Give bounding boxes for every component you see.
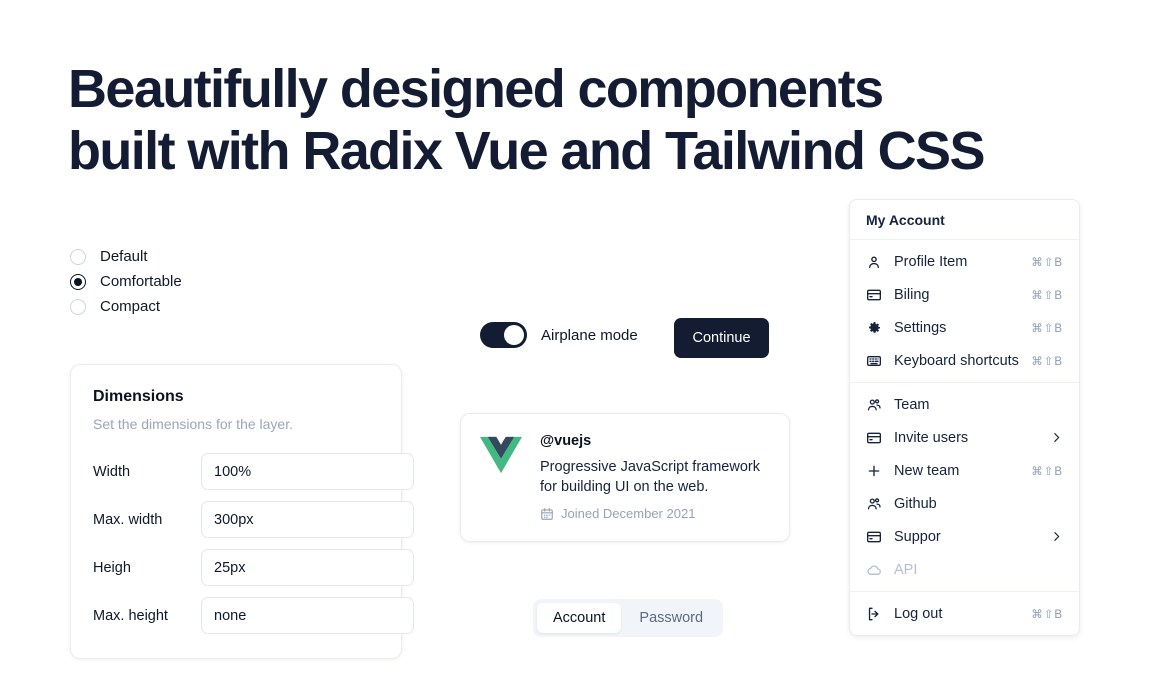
menu-group: Profile Item⌘⇧BBiling⌘⇧BSettings⌘⇧BKeybo…: [850, 240, 1079, 382]
dimension-field-row: Max. height: [93, 597, 379, 634]
credit-card-icon: [866, 529, 882, 545]
settings-tabs: AccountPassword: [533, 599, 723, 637]
credit-card-icon: [866, 430, 882, 446]
dimension-input-heigh[interactable]: [201, 549, 414, 586]
menu-item-new-team[interactable]: New team⌘⇧B: [850, 454, 1079, 487]
profile-hover-card: @vuejs Progressive JavaScript framework …: [460, 413, 790, 542]
dimensions-card-description: Set the dimensions for the layer.: [93, 415, 379, 433]
user-icon: [866, 254, 882, 270]
hover-card-body: @vuejs Progressive JavaScript framework …: [540, 432, 770, 522]
dimension-field-row: Width: [93, 453, 379, 490]
radio-option-compact[interactable]: Compact: [70, 298, 182, 315]
airplane-mode-label: Airplane mode: [541, 327, 638, 344]
menu-item-label: Team: [894, 397, 1063, 413]
menu-item-label: API: [894, 562, 1063, 578]
page-title: Beautifully designed components built wi…: [68, 58, 1028, 182]
menu-item-shortcut: ⌘⇧B: [1031, 288, 1063, 302]
menu-item-label: Profile Item: [894, 254, 1031, 270]
continue-button[interactable]: Continue: [674, 318, 769, 358]
menu-header-label: My Account: [850, 200, 1079, 239]
menu-item-label: Settings: [894, 320, 1031, 336]
menu-item-keyboard-shortcuts[interactable]: Keyboard shortcuts⌘⇧B: [850, 344, 1079, 377]
density-radio-group[interactable]: DefaultComfortableCompact: [70, 248, 182, 315]
menu-item-api: API: [850, 553, 1079, 586]
menu-item-team[interactable]: Team: [850, 388, 1079, 421]
radio-option-comfortable[interactable]: Comfortable: [70, 273, 182, 290]
dimension-input-width[interactable]: [201, 453, 414, 490]
page-title-line-2: built with Radix Vue and Tailwind CSS: [68, 120, 1028, 182]
toggle-knob: [504, 325, 524, 345]
cloud-icon: [866, 562, 882, 578]
dimension-input-max-height[interactable]: [201, 597, 414, 634]
menu-item-label: Keyboard shortcuts: [894, 353, 1031, 369]
radio-option-label: Default: [100, 248, 148, 265]
dimension-field-label: Heigh: [93, 560, 201, 576]
menu-item-github[interactable]: Github: [850, 487, 1079, 520]
radio-option-label: Compact: [100, 298, 160, 315]
account-dropdown-menu: My Account Profile Item⌘⇧BBiling⌘⇧BSetti…: [849, 199, 1080, 636]
dimension-field-label: Width: [93, 464, 201, 480]
hover-card-description: Progressive JavaScript framework for bui…: [540, 457, 770, 497]
tab-account[interactable]: Account: [537, 603, 621, 633]
page-title-line-1: Beautifully designed components: [68, 58, 1028, 120]
dimension-field-label: Max. height: [93, 608, 201, 624]
keyboard-icon: [866, 353, 882, 369]
vue-logo-icon: [480, 434, 522, 476]
menu-item-biling[interactable]: Biling⌘⇧B: [850, 278, 1079, 311]
menu-item-profile-item[interactable]: Profile Item⌘⇧B: [850, 245, 1079, 278]
radio-option-default[interactable]: Default: [70, 248, 182, 265]
menu-item-shortcut: ⌘⇧B: [1031, 464, 1063, 478]
radio-indicator-icon: [70, 274, 86, 290]
menu-item-shortcut: ⌘⇧B: [1031, 607, 1063, 621]
chevron-right-icon: [1050, 530, 1063, 543]
hover-card-handle: @vuejs: [540, 432, 770, 450]
menu-item-label: New team: [894, 463, 1031, 479]
menu-item-log-out[interactable]: Log out⌘⇧B: [850, 597, 1079, 630]
menu-body: Profile Item⌘⇧BBiling⌘⇧BSettings⌘⇧BKeybo…: [850, 240, 1079, 635]
menu-item-invite-users[interactable]: Invite users: [850, 421, 1079, 454]
dimension-input-max-width[interactable]: [201, 501, 414, 538]
tab-password[interactable]: Password: [623, 603, 719, 633]
dimensions-fields: WidthMax. widthHeighMax. height: [93, 453, 379, 634]
menu-group: Log out⌘⇧B: [850, 592, 1079, 635]
menu-item-shortcut: ⌘⇧B: [1031, 354, 1063, 368]
menu-item-label: Log out: [894, 606, 1031, 622]
users-icon: [866, 496, 882, 512]
menu-item-settings[interactable]: Settings⌘⇧B: [850, 311, 1079, 344]
hover-card-joined: Joined December 2021: [540, 506, 770, 522]
toggle-switch-icon[interactable]: [480, 322, 527, 348]
menu-item-suppor[interactable]: Suppor: [850, 520, 1079, 553]
dimension-field-label: Max. width: [93, 512, 201, 528]
menu-item-shortcut: ⌘⇧B: [1031, 321, 1063, 335]
hover-card-joined-text: Joined December 2021: [561, 506, 695, 522]
radio-indicator-icon: [70, 299, 86, 315]
logout-icon: [866, 606, 882, 622]
radio-indicator-icon: [70, 249, 86, 265]
plus-icon: [866, 463, 882, 479]
airplane-mode-row: Airplane mode: [480, 322, 638, 348]
menu-item-shortcut: ⌘⇧B: [1031, 255, 1063, 269]
chevron-right-icon: [1050, 431, 1063, 444]
users-icon: [866, 397, 882, 413]
dimensions-card-title: Dimensions: [93, 387, 379, 407]
menu-item-label: Suppor: [894, 529, 1050, 545]
menu-item-label: Biling: [894, 287, 1031, 303]
menu-item-label: Github: [894, 496, 1063, 512]
gear-icon: [866, 320, 882, 336]
radio-option-label: Comfortable: [100, 273, 182, 290]
menu-group: TeamInvite usersNew team⌘⇧BGithubSupporA…: [850, 383, 1079, 591]
menu-item-label: Invite users: [894, 430, 1050, 446]
calendar-icon: [540, 507, 554, 521]
credit-card-icon: [866, 287, 882, 303]
page-root: Beautifully designed components built wi…: [0, 0, 1152, 700]
dimensions-card: Dimensions Set the dimensions for the la…: [70, 364, 402, 659]
dimension-field-row: Heigh: [93, 549, 379, 586]
dimension-field-row: Max. width: [93, 501, 379, 538]
